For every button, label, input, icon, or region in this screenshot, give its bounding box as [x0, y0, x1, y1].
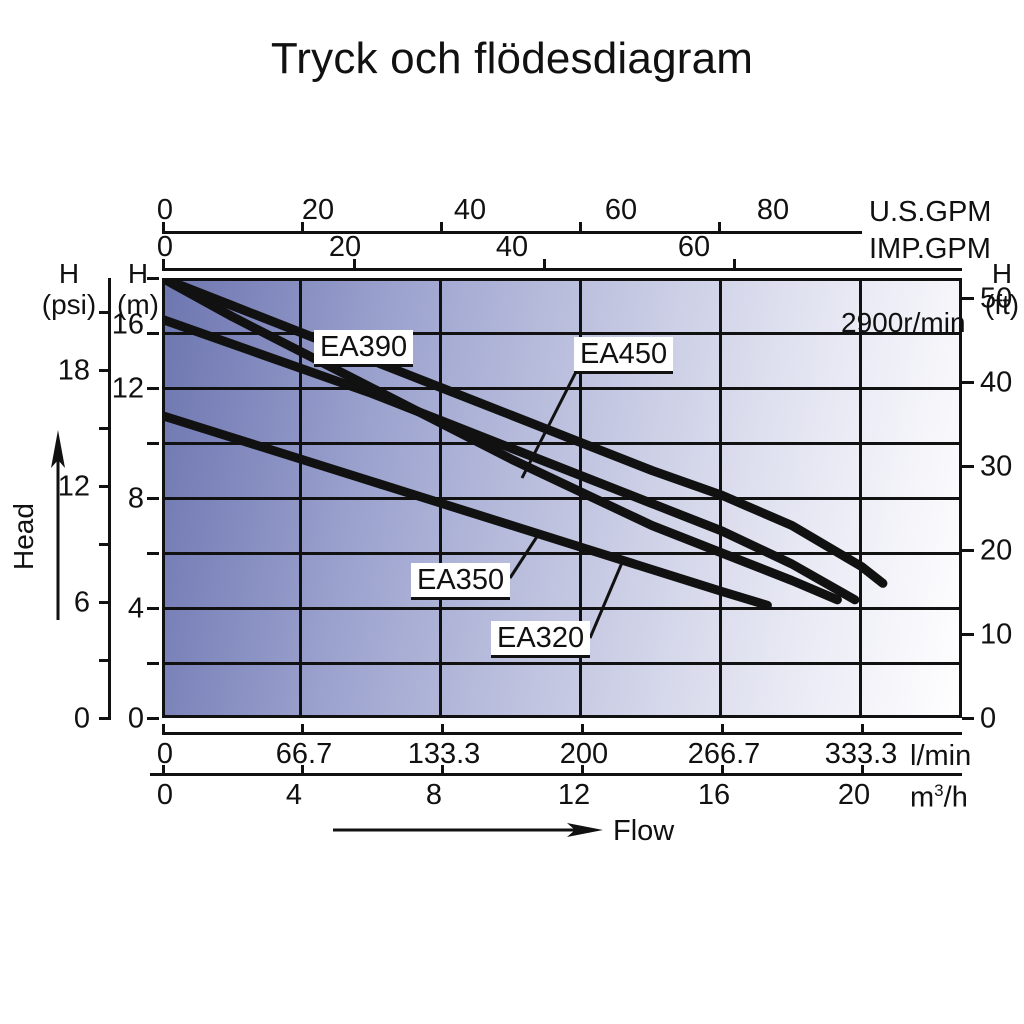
ticklabel-psi-18: 18: [58, 357, 90, 386]
ticklabel-usgpm-60: 60: [605, 196, 637, 225]
ticklabel-impgpm-20: 20: [329, 233, 361, 262]
ticklabel-m-12: 12: [112, 375, 144, 404]
unit-impgpm: IMP.GPM: [869, 233, 991, 266]
ticklabel-lmin-133: 133.3: [408, 740, 481, 769]
axis-name-ft-line1: H: [992, 258, 1012, 289]
ticklabel-m3h-8: 8: [426, 781, 442, 810]
left-axis-psi-rail: [108, 278, 111, 718]
ticklabel-impgpm-60: 60: [678, 233, 710, 262]
tick-usgpm-60: [579, 222, 582, 233]
ticklabel-lmin-266: 266.7: [688, 740, 761, 769]
ticklabel-m3h-20: 20: [838, 781, 870, 810]
axis-name-m-line1: H: [128, 258, 148, 289]
ticklabel-usgpm-40: 40: [454, 196, 486, 225]
ticklabel-psi-6: 6: [74, 589, 90, 618]
tick-ft-50: [962, 297, 974, 300]
ticklabel-usgpm-20: 20: [302, 196, 334, 225]
tick-m-6: [147, 552, 159, 555]
ticklabel-impgpm-40: 40: [496, 233, 528, 262]
tick-m3h-0: [162, 765, 165, 776]
axis-name-psi-line2: (psi): [42, 289, 96, 320]
tick-m3h-20: [861, 765, 864, 776]
ticklabel-ft-0: 0: [980, 705, 996, 734]
tick-lmin-333: [861, 724, 864, 735]
chart-canvas: Tryck och flödesdiagram 0 20 40 60 80 U.…: [0, 0, 1024, 1024]
tick-m-14: [147, 332, 159, 335]
unit-m3h-tail: /h: [944, 782, 968, 814]
speed-annotation: 2900r/min: [841, 307, 966, 339]
tick-ft-40: [962, 381, 974, 384]
ticklabel-ft-30: 30: [980, 453, 1012, 482]
tick-impgpm-60: [733, 259, 736, 270]
ticklabel-ft-40: 40: [980, 369, 1012, 398]
axis-name-m-line2: (m): [117, 289, 159, 320]
tick-m3h-12: [581, 765, 584, 776]
tick-m-0: [147, 717, 159, 720]
bottom-axis-lmin-rail: [162, 732, 962, 735]
tick-ft-0: [962, 717, 974, 720]
tick-psi-15: [99, 427, 111, 430]
page-title: Tryck och flödesdiagram: [0, 34, 1024, 84]
ticklabel-m3h-4: 4: [286, 781, 302, 810]
ticklabel-m-4: 4: [128, 595, 144, 624]
callout-ea450: EA450: [574, 337, 673, 374]
tick-ft-10: [962, 633, 974, 636]
tick-ft-20: [962, 549, 974, 552]
ticklabel-m3h-0: 0: [157, 781, 173, 810]
axis-name-psi-line1: H: [59, 258, 79, 289]
unit-usgpm: U.S.GPM: [869, 196, 991, 229]
tick-psi-3: [99, 659, 111, 662]
flow-axis-label: Flow: [613, 815, 674, 848]
axis-name-m: H (m): [112, 258, 164, 321]
unit-m3h-base: m: [910, 782, 934, 814]
tick-m-12: [147, 387, 159, 390]
callout-ea320: EA320: [491, 621, 590, 658]
head-axis-label: Head: [8, 503, 40, 570]
axis-name-ft: H (ft): [975, 258, 1024, 321]
ticklabel-usgpm-80: 80: [757, 196, 789, 225]
tick-impgpm-40: [543, 259, 546, 270]
ticklabel-m3h-16: 16: [698, 781, 730, 810]
ticklabel-ft-20: 20: [980, 537, 1012, 566]
unit-m3h-exponent: 3: [934, 781, 943, 800]
ticklabel-usgpm-0: 0: [157, 196, 173, 225]
tick-m-8: [147, 497, 159, 500]
ticklabel-m-8: 8: [128, 485, 144, 514]
tick-lmin-200: [581, 724, 584, 735]
axis-name-psi: H (psi): [30, 258, 108, 321]
axis-name-ft-line2: (ft): [985, 289, 1019, 320]
tick-psi-0: [99, 717, 111, 720]
ticklabel-lmin-200: 200: [560, 740, 608, 769]
flow-arrow-icon: [331, 816, 611, 844]
unit-lmin: l/min: [910, 740, 971, 773]
tick-psi-18: [99, 369, 111, 372]
tick-ft-30: [962, 465, 974, 468]
ticklabel-psi-0: 0: [74, 705, 90, 734]
unit-m3h: m3/h: [910, 781, 968, 815]
tick-lmin-266: [721, 724, 724, 735]
ticklabel-lmin-0: 0: [157, 740, 173, 769]
tick-psi-9: [99, 543, 111, 546]
top-axis-impgpm-rail: [162, 268, 962, 271]
tick-m-4: [147, 607, 159, 610]
tick-m3h-4: [301, 765, 304, 776]
tick-m3h-16: [721, 765, 724, 776]
tick-m3h-8: [441, 765, 444, 776]
callout-ea350: EA350: [411, 563, 510, 600]
tick-psi-12: [99, 485, 111, 488]
tick-lmin-0: [162, 724, 165, 735]
callout-ea390: EA390: [314, 330, 413, 367]
ticklabel-m-0: 0: [128, 705, 144, 734]
ticklabel-m3h-12: 12: [558, 781, 590, 810]
tick-usgpm-80: [718, 222, 721, 233]
tick-lmin-133: [441, 724, 444, 735]
ticklabel-lmin-66: 66.7: [276, 740, 332, 769]
tick-m-2: [147, 662, 159, 665]
tick-lmin-66: [301, 724, 304, 735]
bottom-axis-m3h-rail: [150, 773, 962, 776]
tick-psi-6: [99, 601, 111, 604]
ticklabel-ft-10: 10: [980, 621, 1012, 650]
tick-m-10: [147, 442, 159, 445]
tick-usgpm-40: [440, 222, 443, 233]
